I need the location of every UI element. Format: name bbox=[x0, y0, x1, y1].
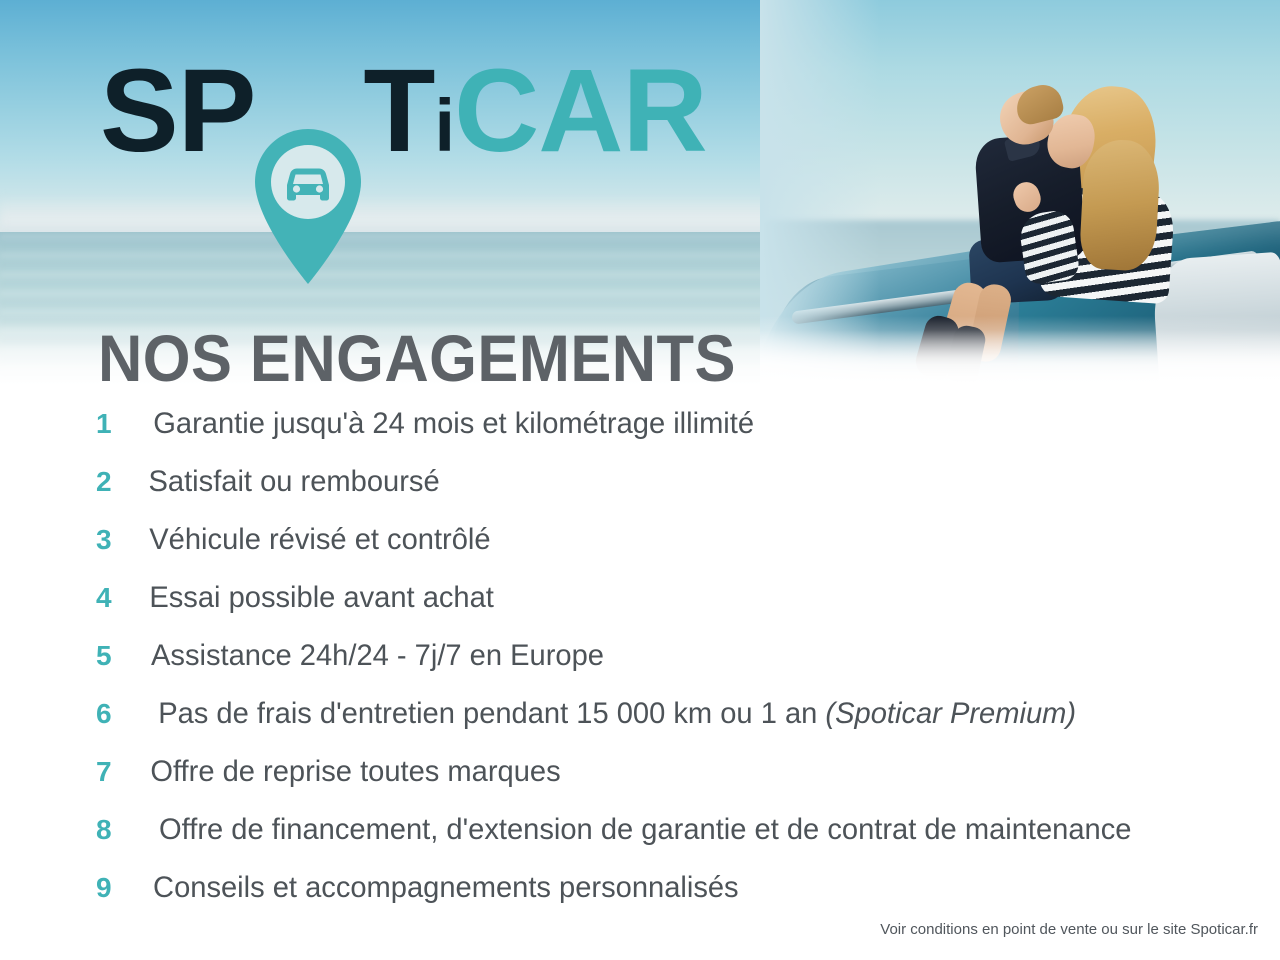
commitment-row: 5Assistance 24h/24 - 7j/7 en Europe bbox=[96, 638, 1256, 696]
commitment-text: Essai possible avant achat bbox=[149, 580, 494, 616]
commitment-row: 8Offre de financement, d'extension de ga… bbox=[96, 812, 1256, 870]
commitment-number: 2 bbox=[96, 465, 144, 499]
hero-banner: SP T i CAR bbox=[0, 0, 1280, 386]
woman-hair-strands-shape bbox=[1079, 138, 1162, 272]
commitment-text: Garantie jusqu'à 24 mois et kilométrage … bbox=[153, 406, 754, 442]
commitment-row: 4Essai possible avant achat bbox=[96, 580, 1256, 638]
woman-arm-shape bbox=[1017, 209, 1080, 286]
spoticar-logo: SP T i CAR bbox=[100, 52, 707, 172]
commitment-text: Satisfait ou remboursé bbox=[149, 464, 440, 500]
spoticar-logo-wordmark: SP T i CAR bbox=[100, 52, 707, 170]
commitment-number: 6 bbox=[96, 697, 144, 731]
commitment-text: Conseils et accompagnements personnalisé… bbox=[153, 870, 739, 906]
page-title: NOS ENGAGEMENTS bbox=[98, 322, 736, 386]
commitment-row: 7Offre de reprise toutes marques bbox=[96, 754, 1256, 812]
commitment-number: 3 bbox=[96, 523, 144, 557]
commitment-row: 6Pas de frais d'entretien pendant 15 000… bbox=[96, 696, 1256, 754]
logo-text-sp: SP bbox=[100, 52, 255, 170]
commitment-number: 8 bbox=[96, 813, 144, 847]
commitment-number: 9 bbox=[96, 871, 144, 905]
logo-text-t: T bbox=[363, 52, 434, 170]
commitment-text: Offre de financement, d'extension de gar… bbox=[159, 812, 1131, 848]
legal-footnote: Voir conditions en point de vente ou sur… bbox=[880, 920, 1258, 940]
commitment-text: Offre de reprise toutes marques bbox=[150, 754, 560, 790]
commitment-row: 3Véhicule révisé et contrôlé bbox=[96, 522, 1256, 580]
commitment-row: 1Garantie jusqu'à 24 mois et kilométrage… bbox=[96, 406, 1256, 464]
spoticar-commitments-poster: SP T i CAR bbox=[0, 0, 1280, 960]
map-pin-car-icon bbox=[255, 129, 361, 284]
commitment-number: 1 bbox=[96, 407, 144, 441]
logo-text-car: CAR bbox=[454, 52, 707, 170]
commitment-text: Assistance 24h/24 - 7j/7 en Europe bbox=[151, 638, 604, 674]
commitment-text: Pas de frais d'entretien pendant 15 000 … bbox=[158, 696, 1076, 732]
commitment-text-emphasis: (Spoticar Premium) bbox=[825, 697, 1076, 730]
commitment-number: 4 bbox=[96, 581, 144, 615]
commitment-number: 7 bbox=[96, 755, 144, 789]
commitment-row: 2Satisfait ou remboursé bbox=[96, 464, 1256, 522]
logo-text-i: i bbox=[435, 89, 455, 163]
commitment-text: Véhicule révisé et contrôlé bbox=[149, 522, 490, 558]
commitments-list: 1Garantie jusqu'à 24 mois et kilométrage… bbox=[96, 406, 1256, 928]
commitment-number: 5 bbox=[96, 639, 144, 673]
